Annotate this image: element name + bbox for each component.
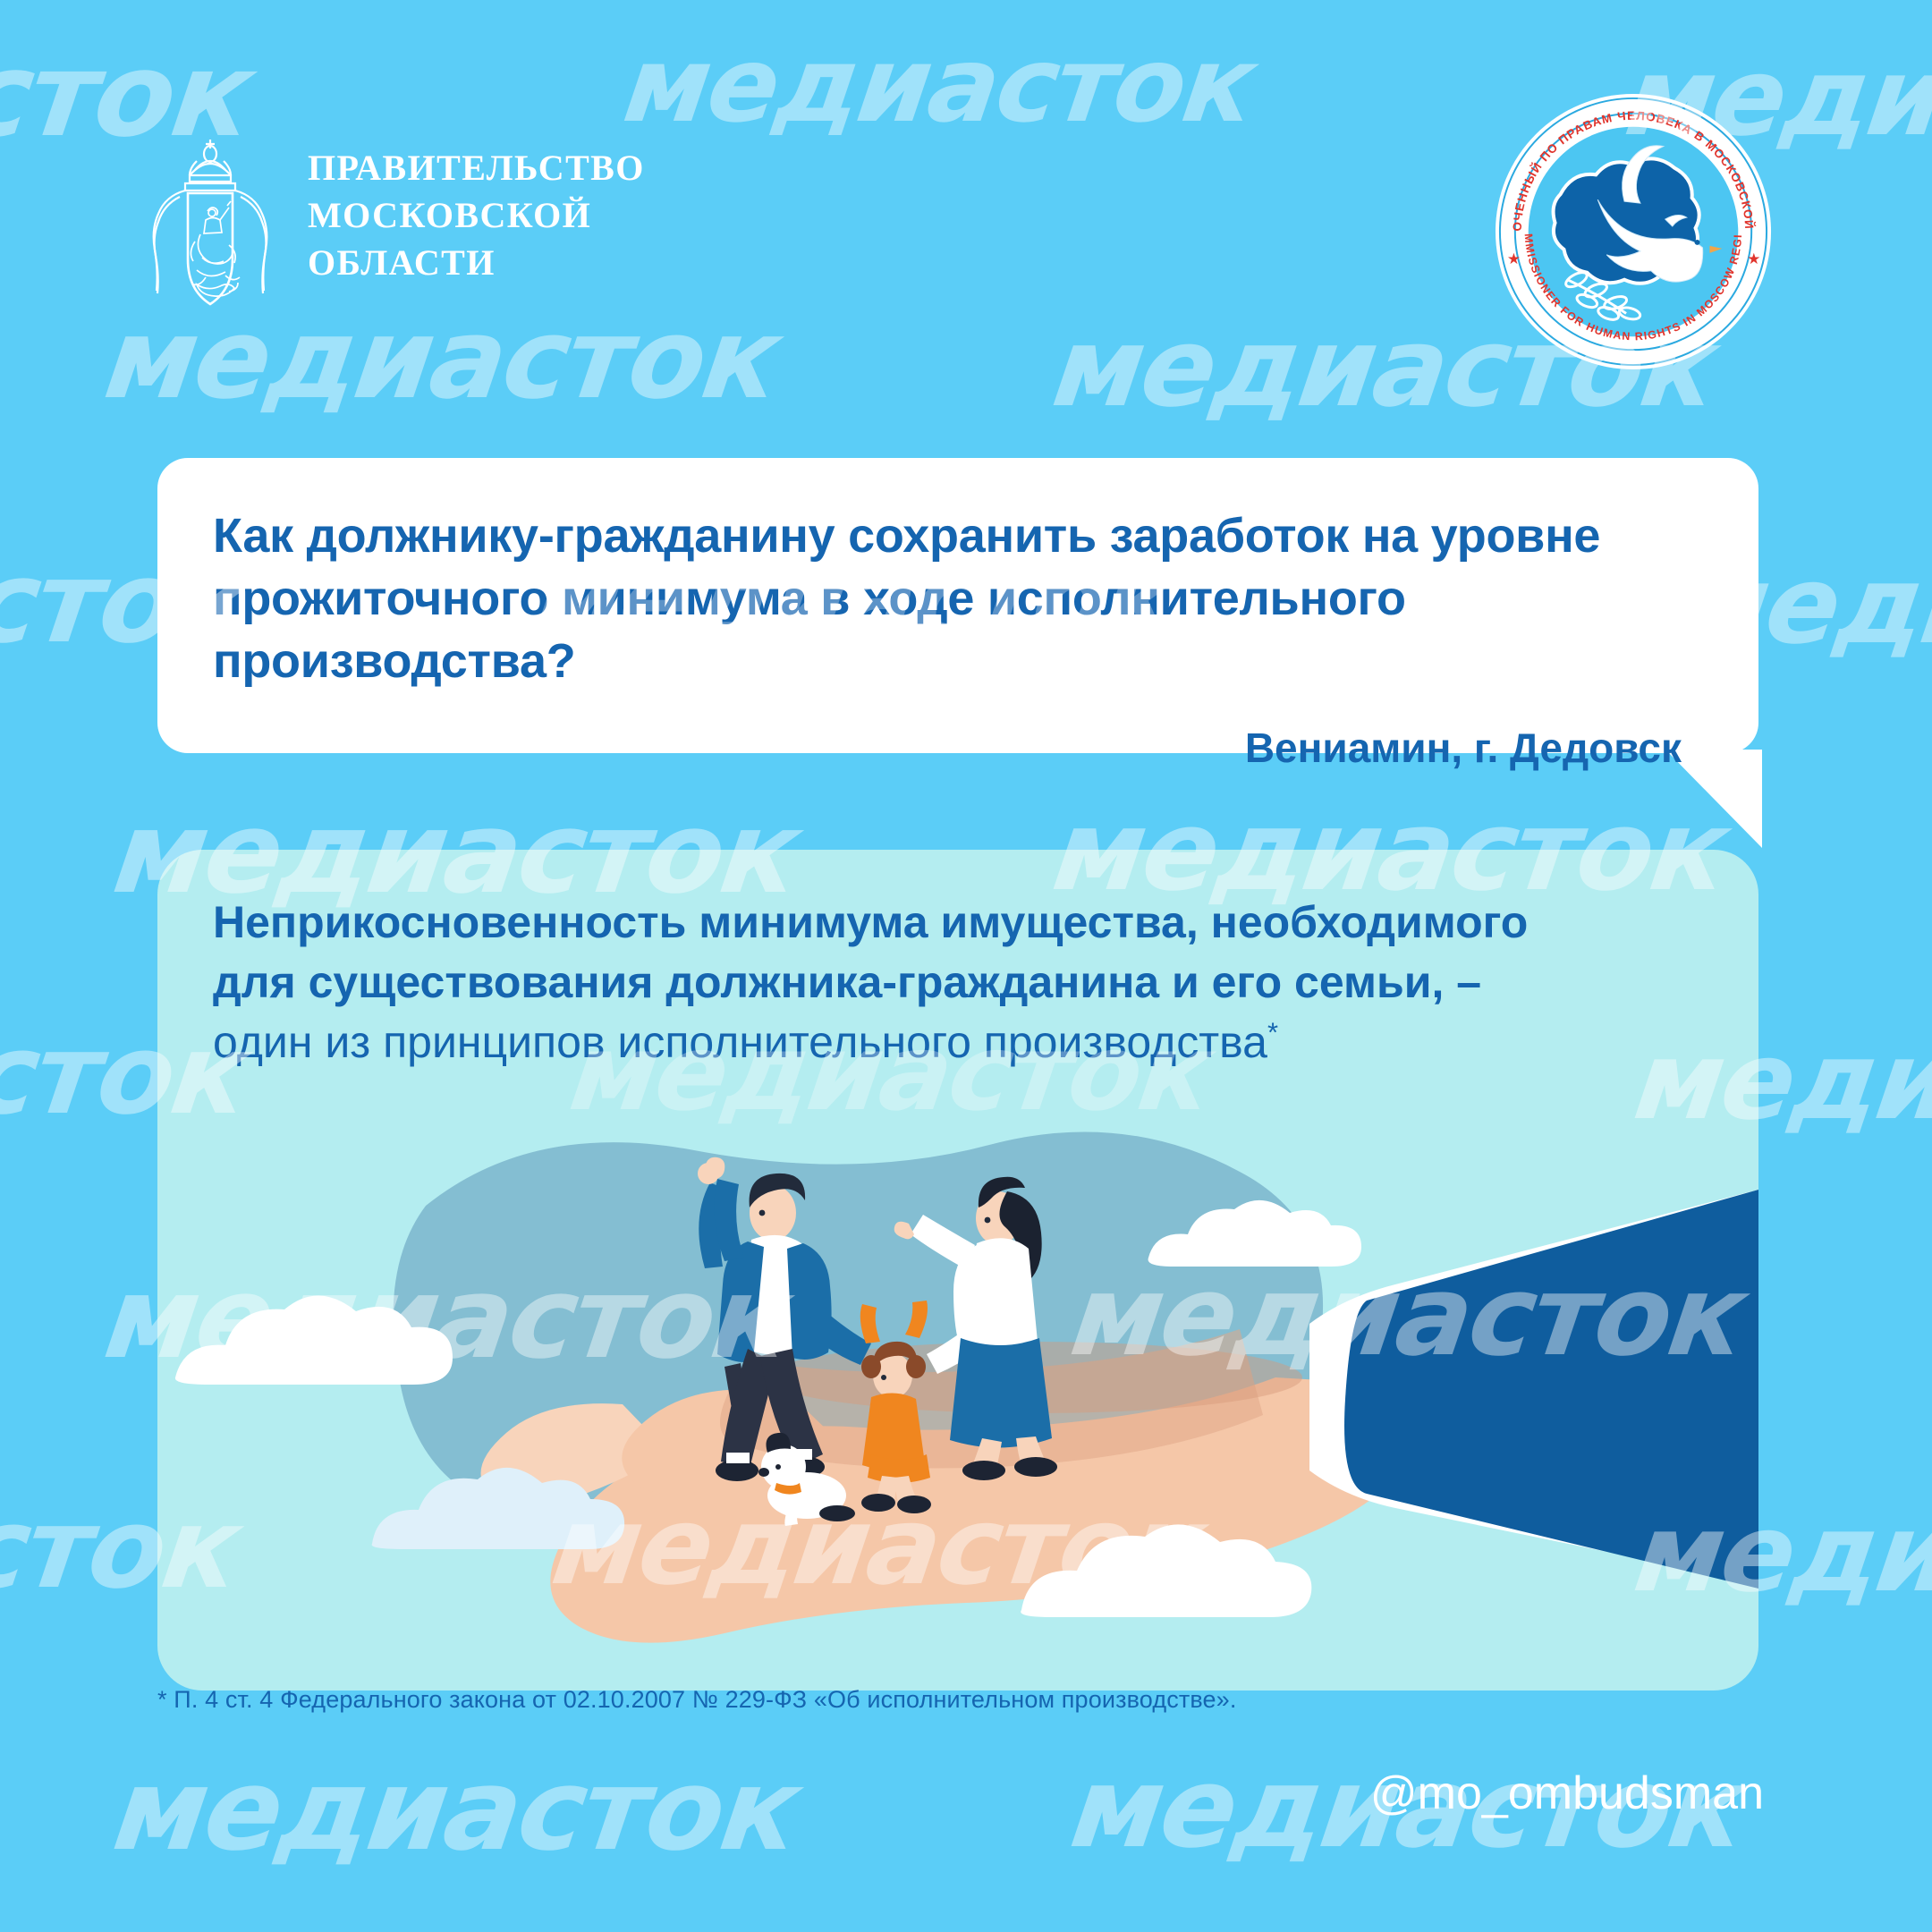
footnote-marker: * (1267, 1016, 1278, 1047)
question-bubble: Как должнику-гражданину сохранить зарабо… (157, 458, 1758, 753)
emblem-star-left: ★ (1507, 250, 1521, 267)
watermark: медиасток (98, 295, 786, 424)
question-author: Вениамин, г. Дедовск (213, 724, 1692, 772)
answer-line-3-wrap: один из принципов исполнительного произв… (213, 1013, 1705, 1072)
government-logo-block: ПРАВИТЕЛЬСТВО МОСКОВСКОЙ ОБЛАСТИ (143, 134, 645, 313)
question-line-1: Как должнику-гражданину сохранить зарабо… (213, 504, 1692, 567)
moscow-region-coat-of-arms-icon (143, 134, 277, 313)
answer-line-3: один из принципов исполнительного произв… (213, 1017, 1267, 1067)
infographic-page: ПРАВИТЕЛЬСТВО МОСКОВСКОЙ ОБЛАСТИ (0, 0, 1932, 1932)
question-text: Как должнику-гражданину сохранить зарабо… (213, 504, 1692, 693)
ombudsman-dove-emblem-icon: УПОЛНОМОЧЕННЫЙ ПО ПРАВАМ ЧЕЛОВЕКА В МОСК… (1491, 89, 1775, 374)
emblem-star-right: ★ (1747, 250, 1760, 267)
answer-line-2: для существования должника-гражданина и … (213, 953, 1705, 1013)
social-handle: @mo_ombudsman (1370, 1767, 1764, 1820)
watermark: медиасток (618, 25, 1261, 146)
gov-line-3: ОБЛАСТИ (308, 240, 645, 287)
watermark: медиасток (107, 1744, 806, 1876)
question-line-2: прожиточного минимума в ходе исполнитель… (213, 567, 1692, 692)
government-title: ПРАВИТЕЛЬСТВО МОСКОВСКОЙ ОБЛАСТИ (308, 134, 645, 286)
answer-line-1: Неприкосновенность минимума имущества, н… (213, 893, 1705, 953)
answer-text-panel: Неприкосновенность минимума имущества, н… (157, 850, 1758, 1690)
gov-line-1: ПРАВИТЕЛЬСТВО (308, 145, 645, 192)
answer-text: Неприкосновенность минимума имущества, н… (213, 893, 1705, 1072)
footnote-text: * П. 4 ст. 4 Федерального закона от 02.1… (157, 1686, 1236, 1714)
gov-line-2: МОСКОВСКОЙ (308, 192, 645, 240)
